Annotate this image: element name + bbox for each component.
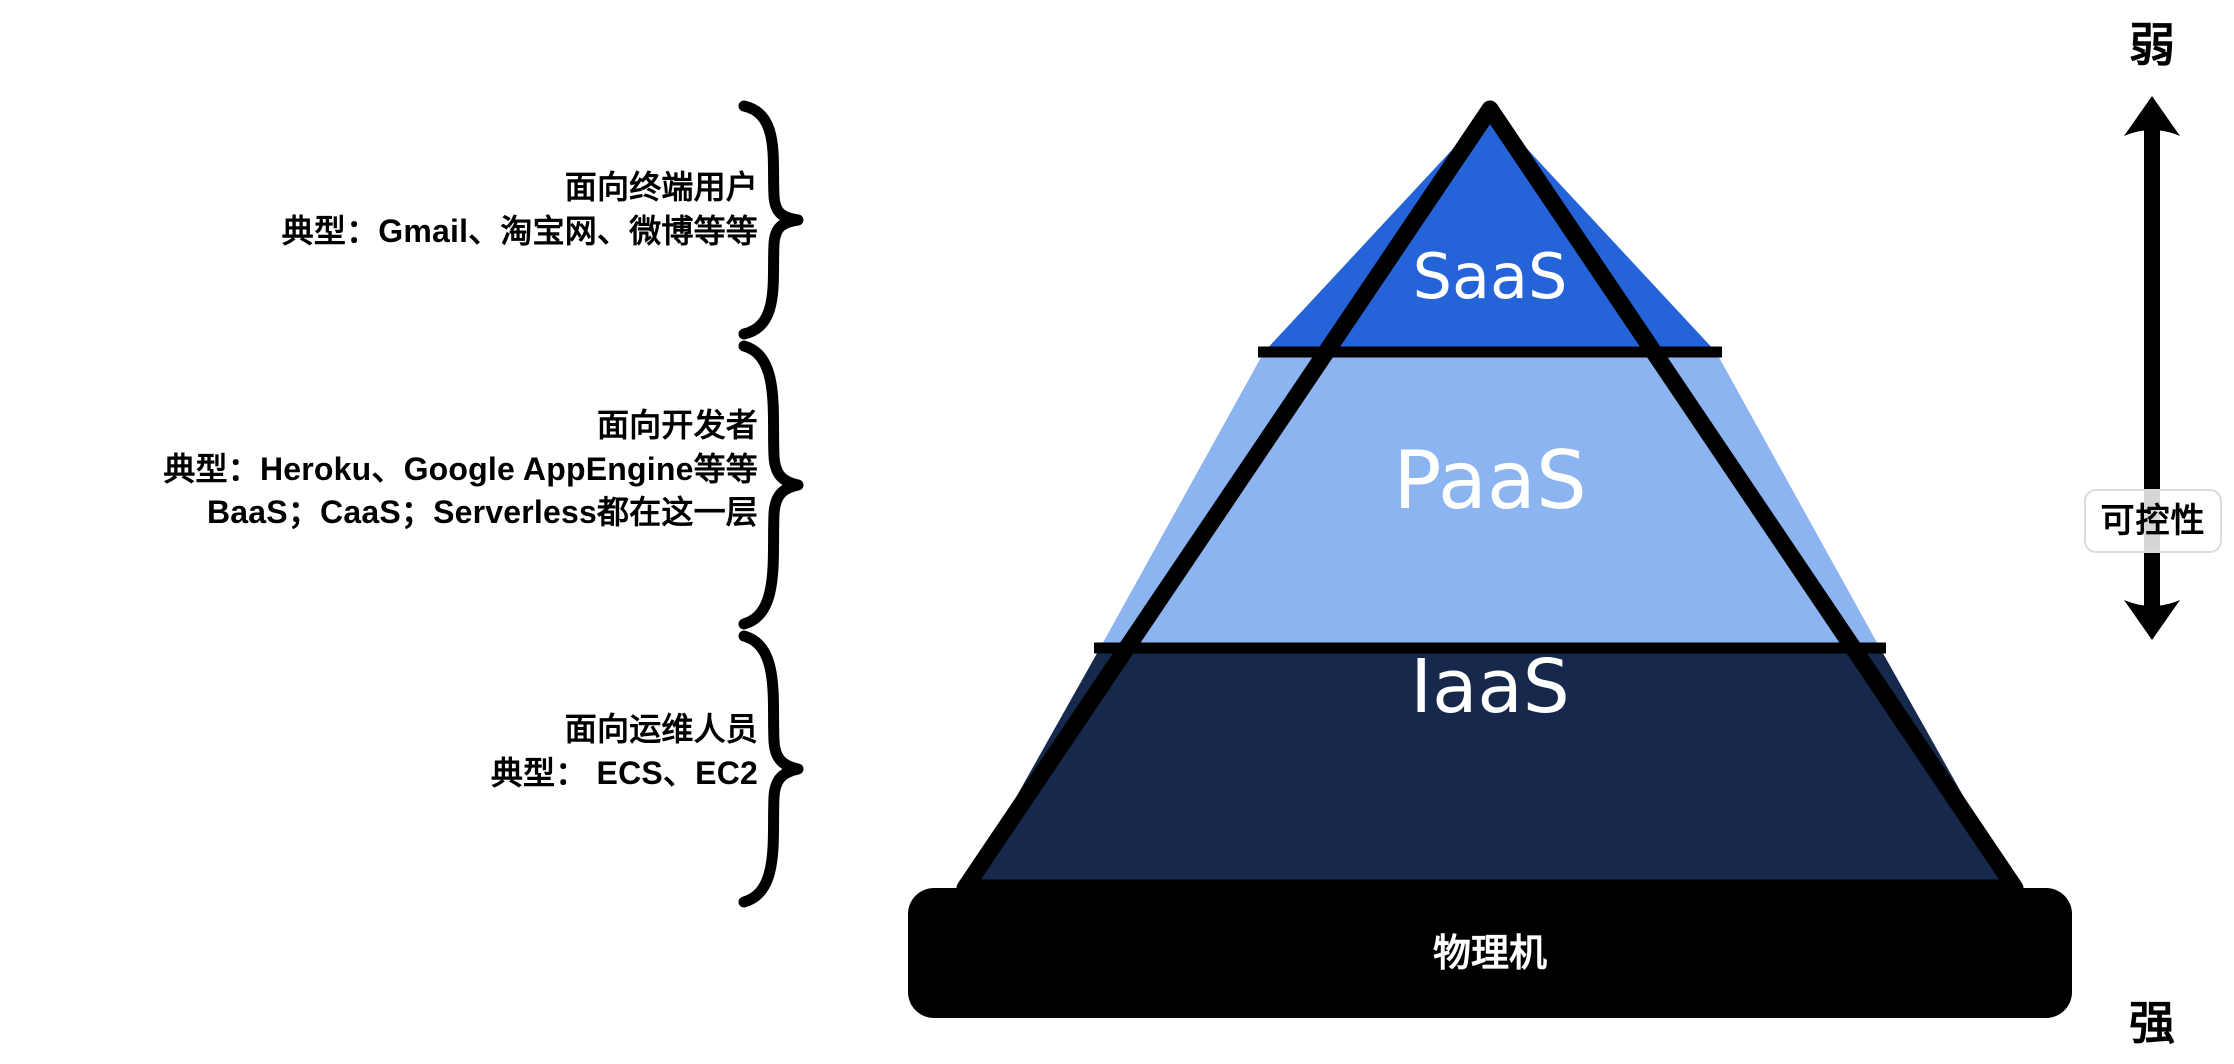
annotation-paas-line-1: 面向开发者 xyxy=(163,404,758,448)
axis-label-strong: 强 xyxy=(2092,1000,2212,1046)
pyramid-graphic: SaaS PaaS IaaS 物理机 xyxy=(880,80,2100,1030)
diagram-canvas: 面向终端用户 典型：Gmail、淘宝网、微博等等 面向开发者 典型：Heroku… xyxy=(0,0,2234,1064)
arrow-head-down xyxy=(2124,600,2180,640)
annotation-saas-line-2: 典型：Gmail、淘宝网、微博等等 xyxy=(282,210,758,254)
pyramid-layer-saas xyxy=(1264,109,1716,352)
annotation-saas-line-1: 面向终端用户 xyxy=(282,166,758,210)
arrow-head-up xyxy=(2124,96,2180,136)
annotation-iaas-line-1: 面向运维人员 xyxy=(491,708,758,752)
pyramid-base-label: 物理机 xyxy=(1433,933,1547,975)
controllability-arrow xyxy=(2122,94,2182,642)
curly-brace-iaas xyxy=(736,630,816,908)
pyramid-label-paas: PaaS xyxy=(1393,434,1586,527)
annotation-paas-line-3: BaaS；CaaS；Serverless都在这一层 xyxy=(163,491,758,535)
axis-label-weak: 弱 xyxy=(2092,22,2212,68)
curly-brace-saas xyxy=(736,100,816,340)
annotation-paas: 面向开发者 典型：Heroku、Google AppEngine等等 BaaS；… xyxy=(163,404,758,535)
annotation-iaas: 面向运维人员 典型： ECS、EC2 xyxy=(491,708,758,795)
controllability-label: 可控性 xyxy=(2084,489,2222,553)
annotation-iaas-line-2: 典型： ECS、EC2 xyxy=(491,752,758,796)
pyramid-label-iaas: IaaS xyxy=(1410,644,1570,730)
curly-brace-paas xyxy=(736,340,816,630)
pyramid-label-saas: SaaS xyxy=(1413,240,1568,313)
annotation-paas-line-2: 典型：Heroku、Google AppEngine等等 xyxy=(163,448,758,492)
annotation-saas: 面向终端用户 典型：Gmail、淘宝网、微博等等 xyxy=(282,166,758,253)
